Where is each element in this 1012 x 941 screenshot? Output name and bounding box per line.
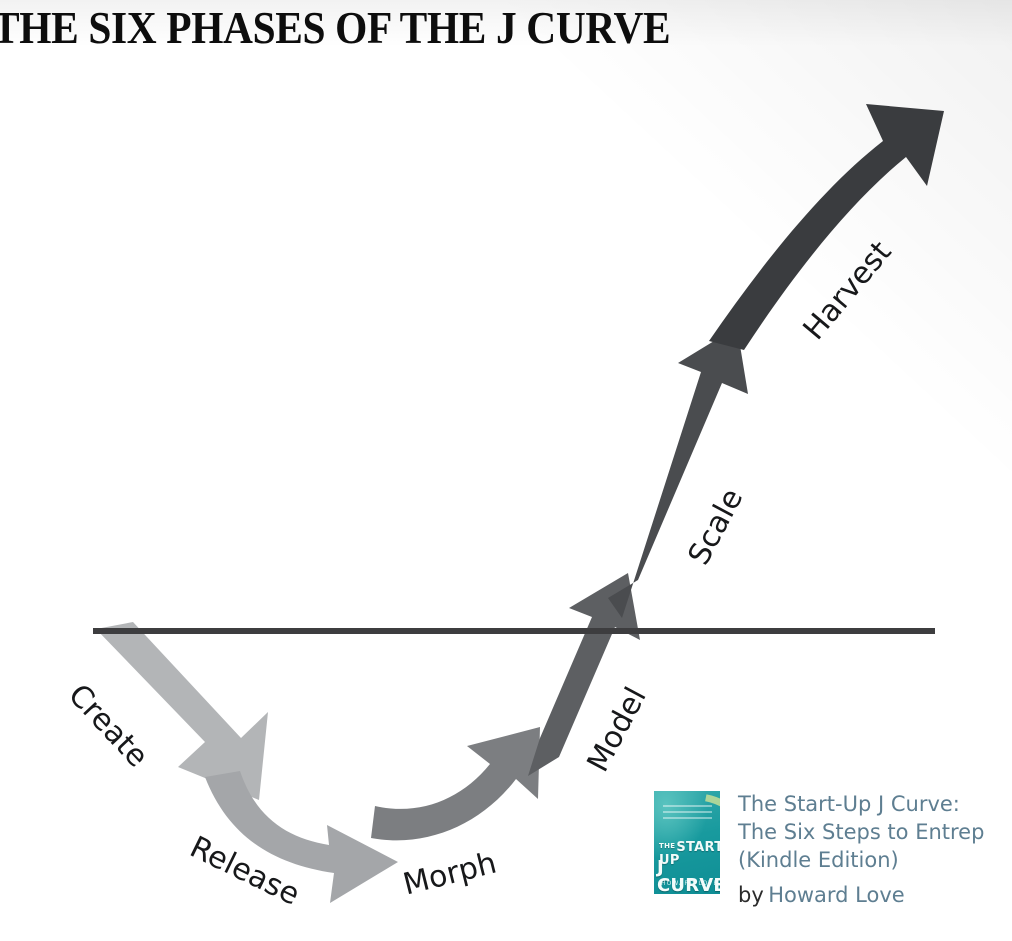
- book-promo[interactable]: THESTART-UP J CURVE HOWARD LOVE The Star…: [654, 791, 1012, 907]
- book-cover-the: THE: [659, 842, 675, 850]
- book-cover-title-line-2: J CURVE: [657, 859, 718, 894]
- book-cover-texture: [663, 805, 712, 821]
- book-byline: by Howard Love: [738, 883, 984, 907]
- book-title-line-2: The Six Steps to Entrep: [738, 819, 984, 847]
- book-title-link[interactable]: The Start-Up J Curve: The Six Steps to E…: [738, 791, 984, 875]
- baseline-axis: [93, 628, 935, 634]
- book-title-line-1: The Start-Up J Curve:: [738, 791, 984, 819]
- phase-arrow-scale: [608, 327, 748, 618]
- book-details: The Start-Up J Curve: The Six Steps to E…: [738, 791, 984, 907]
- j-curve-infographic: THE SIX PHASES OF THE J CURVE Creat: [0, 0, 1012, 941]
- byline-prefix: by: [738, 883, 764, 907]
- phase-arrow-create: [96, 622, 268, 800]
- book-cover-author: HOWARD LOVE: [661, 880, 718, 887]
- book-author-link[interactable]: Howard Love: [768, 883, 904, 907]
- book-format: (Kindle Edition): [738, 847, 984, 875]
- phase-arrow-morph: [371, 727, 540, 840]
- book-cover-thumbnail[interactable]: THESTART-UP J CURVE HOWARD LOVE: [654, 791, 720, 894]
